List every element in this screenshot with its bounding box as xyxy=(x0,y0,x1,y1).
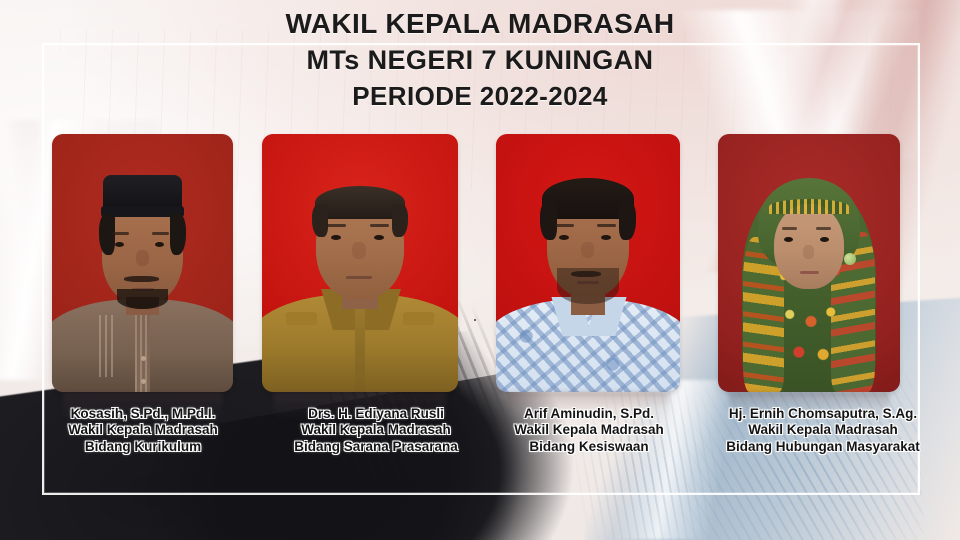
person-name-2: Drs. H. Ediyana Rusli xyxy=(248,406,504,422)
person-department-1: Bidang Kurikulum xyxy=(18,439,268,455)
portrait-caption-2: Drs. H. Ediyana Rusli Wakil Kepala Madra… xyxy=(248,406,504,455)
person-department-3: Bidang Kesiswaan xyxy=(475,439,703,455)
person-name-4: Hj. Ernih Chomsaputra, S.Ag. xyxy=(690,406,956,422)
person-role-3: Wakil Kepala Madrasah xyxy=(475,422,703,438)
portrait-card-4 xyxy=(718,134,900,392)
person-role-2: Wakil Kepala Madrasah xyxy=(248,422,504,438)
title-line-3: PERIODE 2022-2024 xyxy=(0,79,960,113)
person-name-3: Arif Aminudin, S.Pd. xyxy=(475,406,703,422)
portrait-photo-4 xyxy=(718,134,900,392)
portrait-row xyxy=(0,134,960,396)
portrait-card-3 xyxy=(496,134,680,392)
title-line-2: MTs NEGERI 7 KUNINGAN xyxy=(0,43,960,79)
portrait-photo-1 xyxy=(52,134,233,392)
poster-canvas: WAKIL KEPALA MADRASAH MTs NEGERI 7 KUNIN… xyxy=(0,0,960,540)
person-department-4: Bidang Hubungan Masyarakat xyxy=(690,439,956,455)
portrait-caption-4: Hj. Ernih Chomsaputra, S.Ag. Wakil Kepal… xyxy=(690,406,956,455)
poster-title-block: WAKIL KEPALA MADRASAH MTs NEGERI 7 KUNIN… xyxy=(0,6,960,113)
person-role-4: Wakil Kepala Madrasah xyxy=(690,422,956,438)
portrait-photo-2 xyxy=(262,134,458,392)
portrait-caption-1: Kosasih, S.Pd., M.Pd.I. Wakil Kepala Mad… xyxy=(18,406,268,455)
person-department-2: Bidang Sarana Prasarana xyxy=(248,439,504,455)
portrait-photo-3 xyxy=(496,134,680,392)
person-name-1: Kosasih, S.Pd., M.Pd.I. xyxy=(18,406,268,422)
portrait-caption-3: Arif Aminudin, S.Pd. Wakil Kepala Madras… xyxy=(475,406,703,455)
portrait-card-1 xyxy=(52,134,233,392)
person-role-1: Wakil Kepala Madrasah xyxy=(18,422,268,438)
title-line-1: WAKIL KEPALA MADRASAH xyxy=(0,6,960,43)
portrait-card-2 xyxy=(262,134,458,392)
